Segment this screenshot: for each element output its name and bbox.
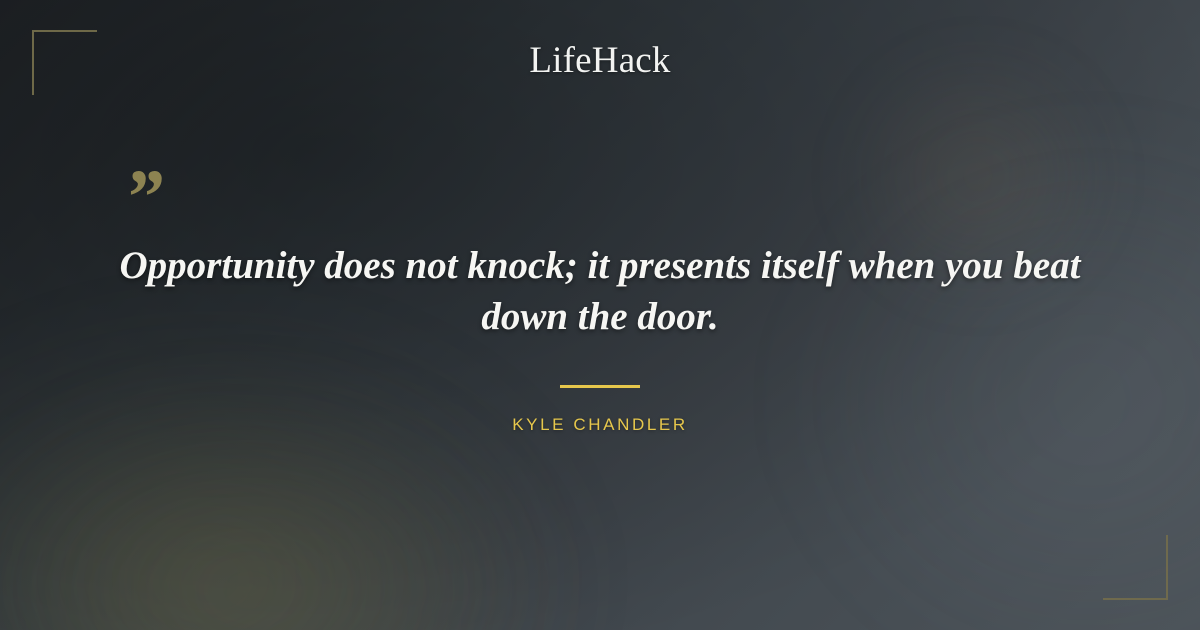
lifehack-logo: LifeHack xyxy=(0,42,1200,79)
background-glow-warm-left xyxy=(0,300,600,630)
corner-bracket-bottom-right xyxy=(1103,535,1168,600)
background-glow-right xyxy=(780,120,1200,630)
quote-line-2: down the door. xyxy=(481,295,718,338)
quote-card: LifeHack ” Opportunity does not knock; i… xyxy=(0,0,1200,630)
quote-line-1: Opportunity does not knock; it presents … xyxy=(120,244,1081,287)
quote-text: Opportunity does not knock; it presents … xyxy=(96,240,1104,342)
quote-mark-icon: ” xyxy=(124,158,163,236)
quote-author: KYLE CHANDLER xyxy=(0,415,1200,435)
attribution-divider xyxy=(560,385,640,388)
